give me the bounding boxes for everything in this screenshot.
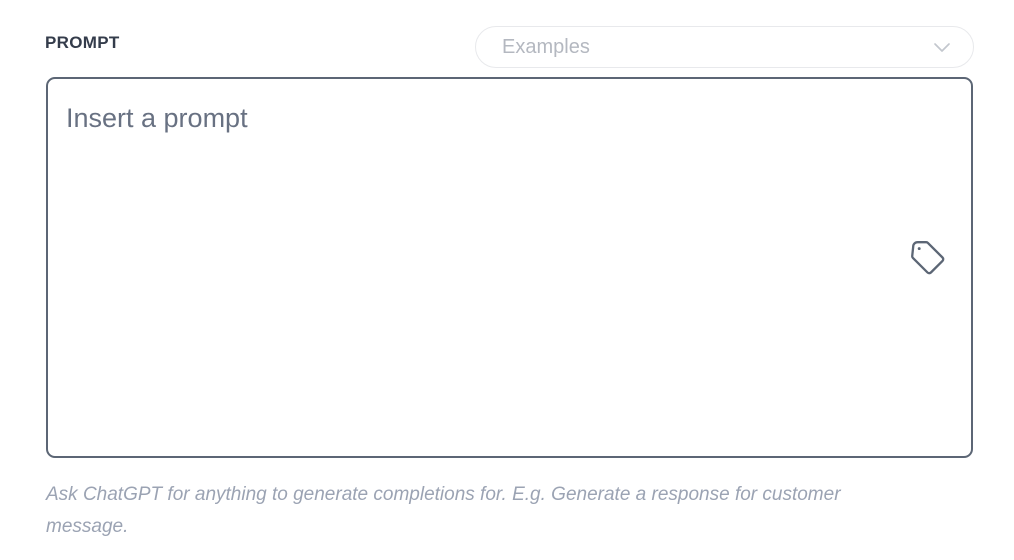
page-title: PROMPT [45,32,120,54]
tag-icon[interactable] [908,240,946,280]
chevron-down-icon [929,34,955,60]
prompt-header-row: PROMPT Examples [45,24,974,70]
examples-dropdown-placeholder: Examples [502,35,590,59]
prompt-helper-text: Ask ChatGPT for anything to generate com… [46,479,916,543]
prompt-input[interactable]: Insert a prompt [46,77,973,458]
prompt-input-placeholder: Insert a prompt [66,101,248,135]
examples-dropdown[interactable]: Examples [475,26,974,68]
prompt-panel: PROMPT Examples Insert a prompt Ask Chat… [0,0,1014,560]
